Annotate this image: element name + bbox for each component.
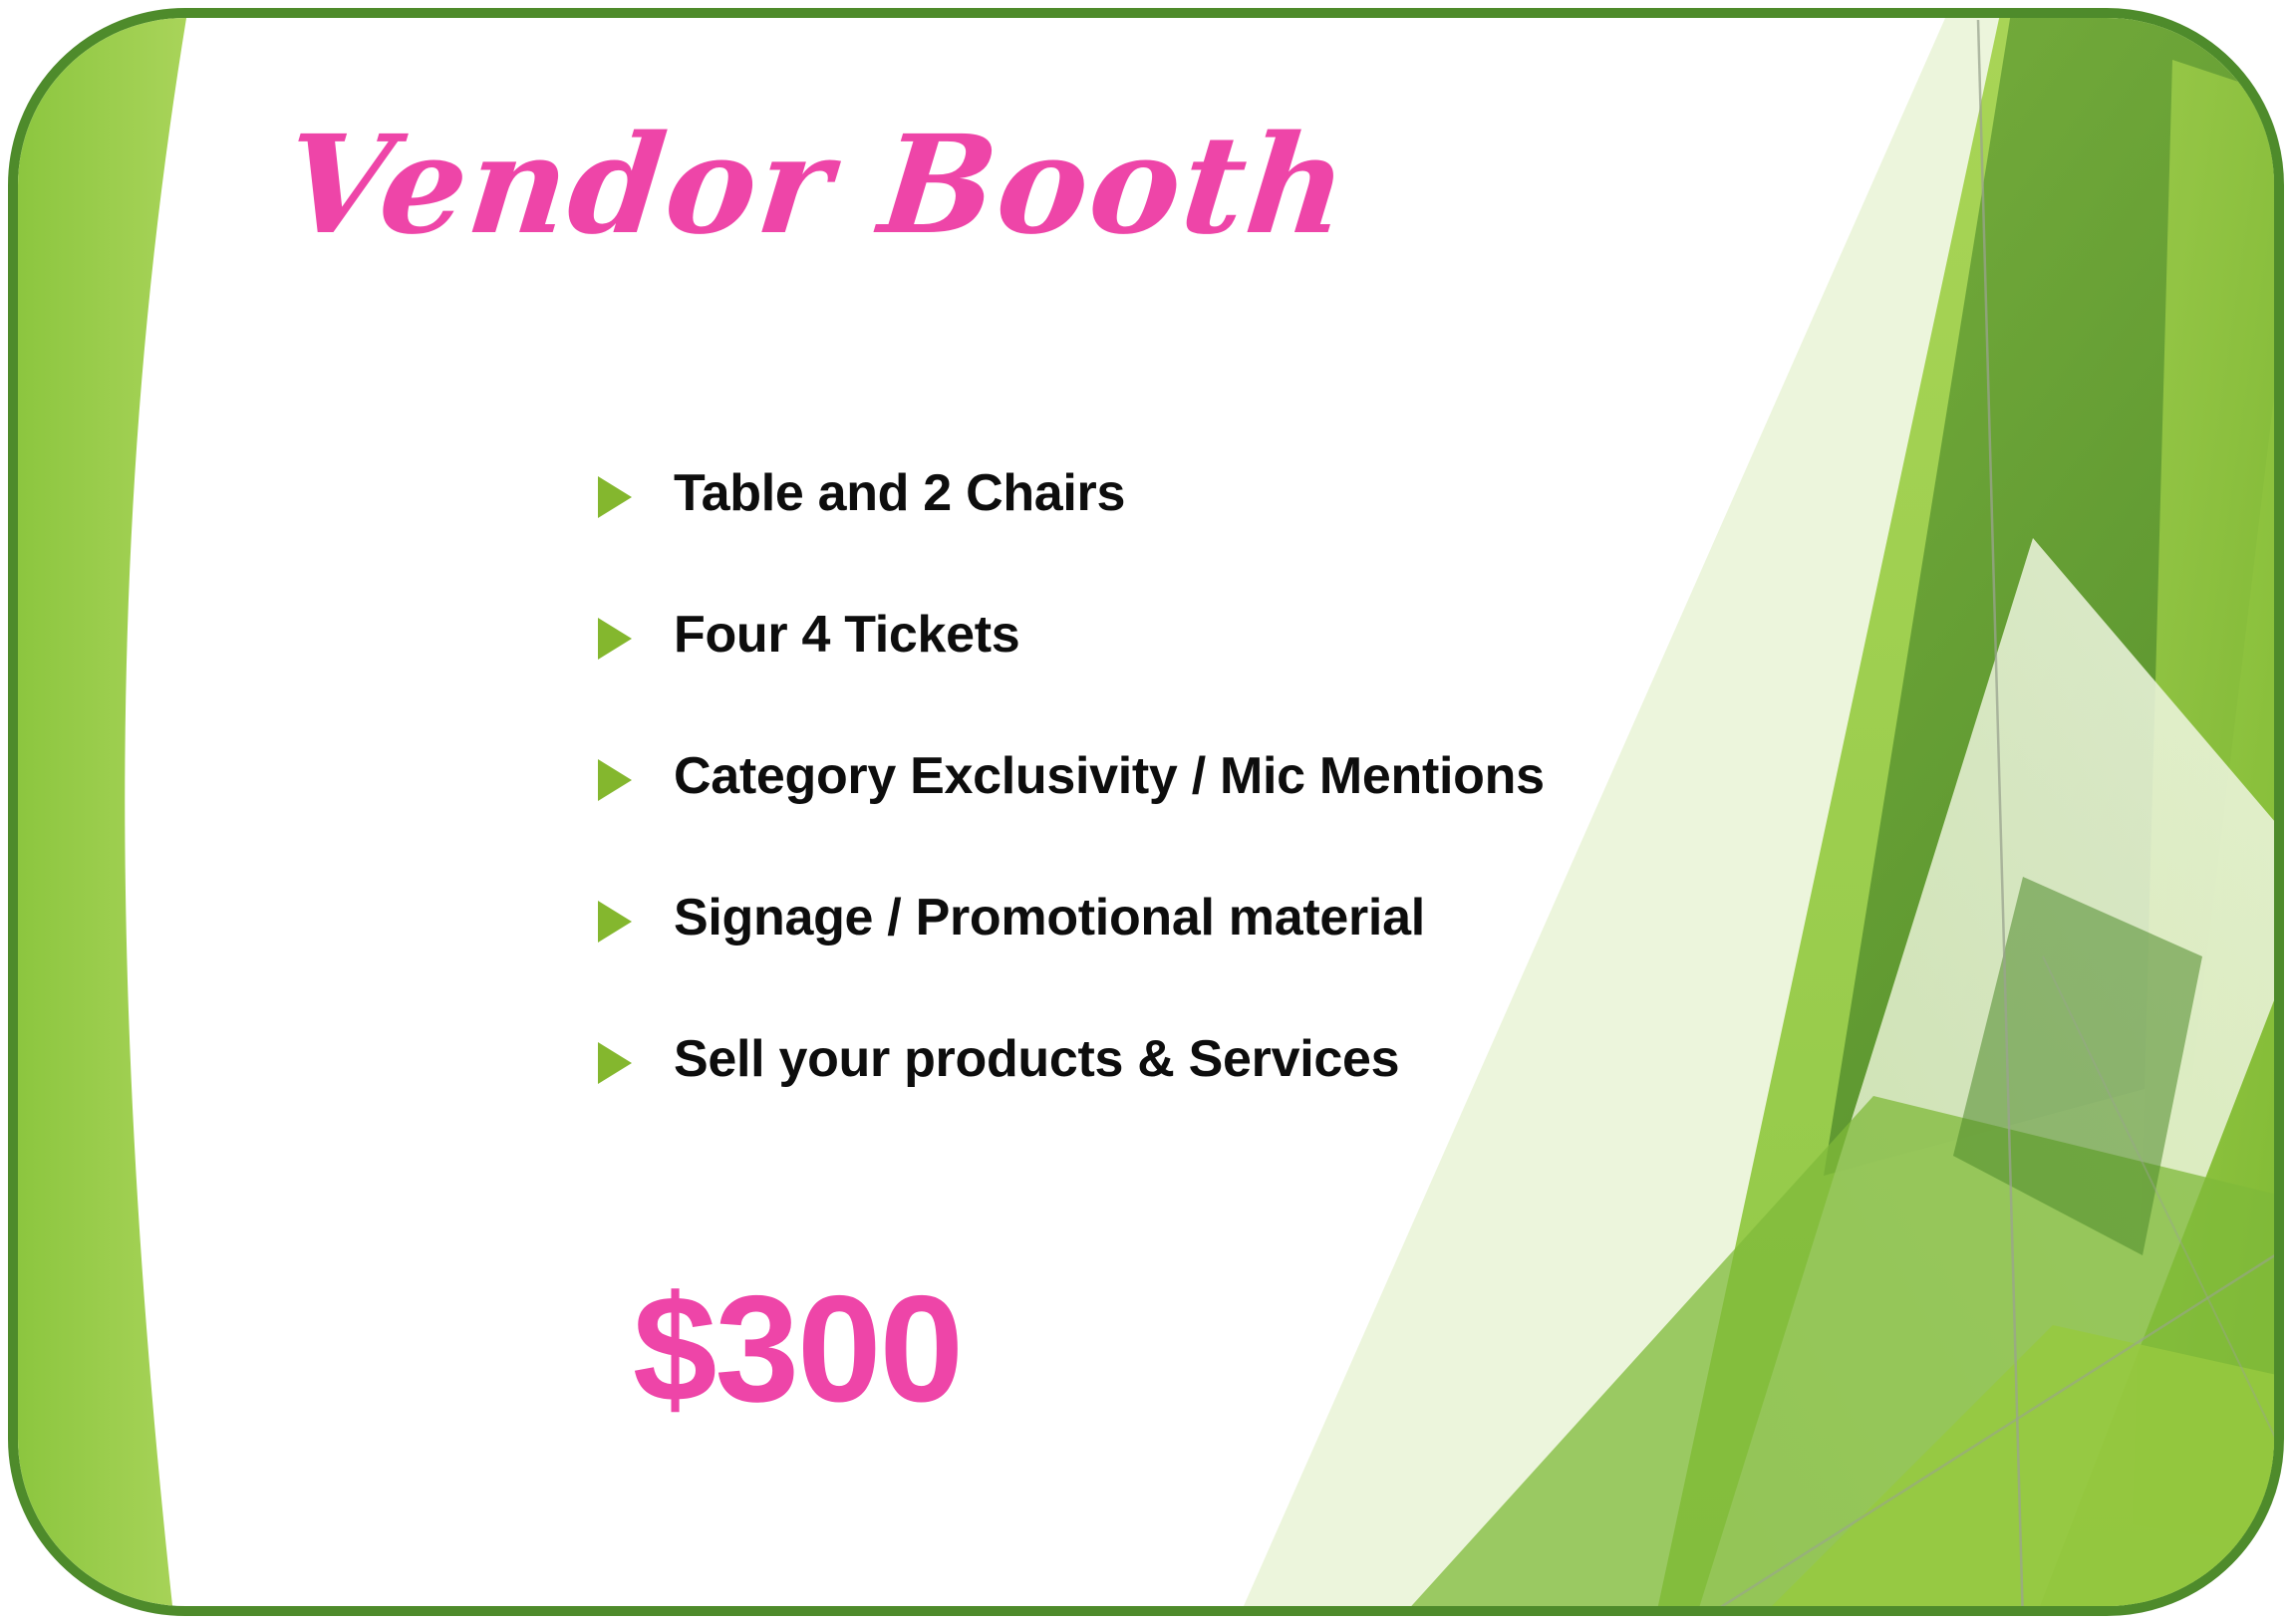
benefit-label: Signage / Promotional material bbox=[674, 891, 1893, 946]
benefit-label: Four 4 Tickets bbox=[674, 608, 1893, 663]
benefit-label: Sell your products & Services bbox=[674, 1032, 1893, 1087]
benefits-list: Table and 2 Chairs Four 4 Tickets Catego… bbox=[598, 466, 1893, 1174]
triangle-right-icon bbox=[598, 618, 632, 660]
benefit-label: Table and 2 Chairs bbox=[674, 466, 1893, 521]
list-item: Sell your products & Services bbox=[598, 1032, 1893, 1174]
list-item: Four 4 Tickets bbox=[598, 608, 1893, 749]
page-title: Vendor Booth bbox=[0, 118, 1641, 253]
list-item: Signage / Promotional material bbox=[598, 891, 1893, 1032]
list-item: Category Exclusivity / Mic Mentions bbox=[598, 749, 1893, 891]
list-item: Table and 2 Chairs bbox=[598, 466, 1893, 608]
triangle-right-icon bbox=[598, 901, 632, 943]
vendor-booth-card: Vendor Booth Table and 2 Chairs Four 4 T… bbox=[0, 0, 2292, 1624]
triangle-right-icon bbox=[598, 476, 632, 518]
price-amount: $300 bbox=[0, 1273, 1594, 1425]
benefit-label: Category Exclusivity / Mic Mentions bbox=[674, 749, 1893, 804]
triangle-right-icon bbox=[598, 759, 632, 801]
triangle-right-icon bbox=[598, 1042, 632, 1084]
